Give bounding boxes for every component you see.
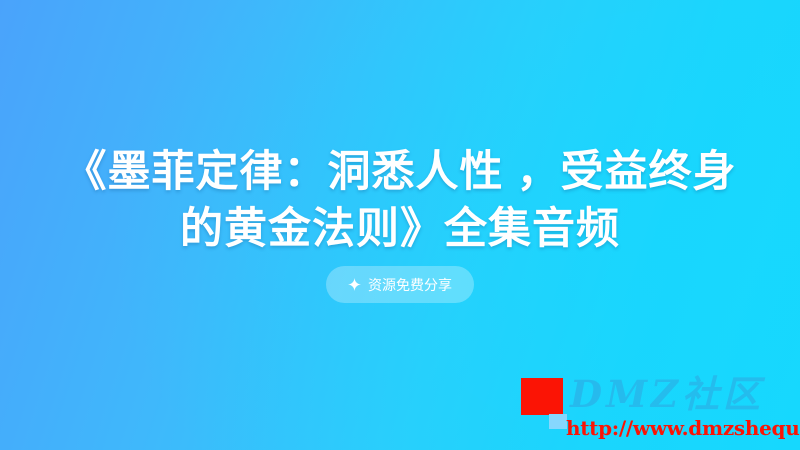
promo-banner: 《墨菲定律：洞悉人性 ，受益终身 的黄金法则》全集音频 资源免费分享 DMZ社区…: [0, 0, 800, 450]
watermark-url[interactable]: http://www.dmzshequ.com: [566, 416, 800, 440]
free-share-badge[interactable]: 资源免费分享: [326, 266, 474, 303]
site-watermark: DMZ社区 http://www.dmzshequ.com: [518, 372, 794, 444]
dmz-logo-icon: [521, 378, 563, 415]
page-title: 《墨菲定律：洞悉人性 ，受益终身 的黄金法则》全集音频: [0, 144, 800, 258]
sparkle-icon: [348, 278, 361, 291]
logo-square: [521, 378, 563, 415]
watermark-brand: DMZ社区: [570, 372, 764, 416]
title-line-1: 《墨菲定律：洞悉人性 ，受益终身: [0, 144, 800, 201]
title-line-2: 的黄金法则》全集音频: [0, 201, 800, 258]
badge-row: 资源免费分享: [0, 266, 800, 303]
free-share-badge-label: 资源免费分享: [368, 278, 452, 292]
logo-accent-square: [549, 414, 567, 429]
